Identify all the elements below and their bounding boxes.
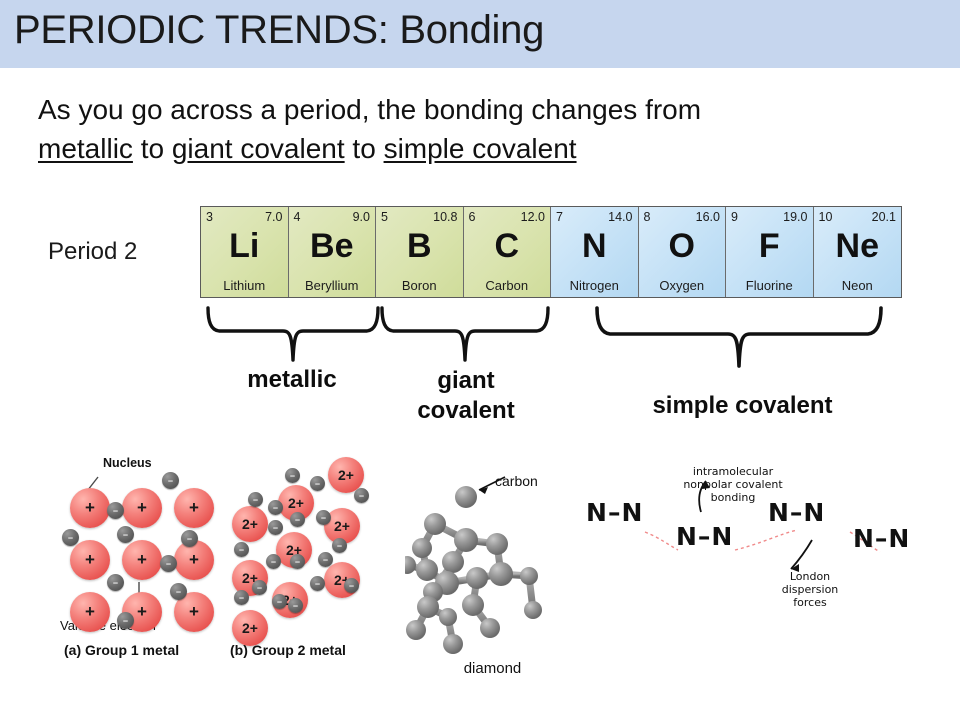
anno-line-1: intramolecular	[663, 465, 803, 478]
minus-sign: –	[268, 503, 283, 512]
figure-a-caption: (a) Group 1 metal	[60, 642, 249, 658]
figure-diamond	[405, 462, 580, 672]
period-label: Period 2	[48, 238, 137, 266]
valence-electron: –	[288, 598, 303, 613]
element-name: Nitrogen	[551, 278, 638, 293]
element-symbol: Ne	[814, 227, 902, 265]
minus-sign: –	[107, 506, 124, 515]
valence-electron: –	[107, 502, 124, 519]
valence-electron: –	[160, 555, 177, 572]
label-metallic: metallic	[207, 366, 377, 394]
valence-electron: –	[310, 476, 325, 491]
minus-sign: –	[272, 597, 287, 606]
element-name: Lithium	[201, 278, 288, 293]
valence-electron: –	[62, 529, 79, 546]
metal-ion: +	[174, 488, 214, 528]
metal-ion: +	[122, 540, 162, 580]
valence-electron: –	[252, 580, 267, 595]
figure-group-1-metal: Nucleus Valence electron (a) Group 1 met…	[60, 450, 245, 665]
minus-sign: –	[266, 557, 281, 566]
valence-electron: –	[318, 552, 333, 567]
valence-electron: –	[248, 492, 263, 507]
brace-metallic	[205, 306, 381, 362]
anno-line-2: nonpolar covalent	[663, 478, 803, 491]
label-covalent: covalent	[381, 396, 551, 426]
term-metallic: metallic	[38, 133, 133, 164]
element-symbol: B	[376, 227, 463, 265]
atomic-number: 4	[294, 210, 301, 224]
valence-electron: –	[181, 530, 198, 547]
body-line-1: As you go across a period, the bonding c…	[38, 94, 701, 126]
metal-ion: +	[70, 488, 110, 528]
valence-electron: –	[107, 574, 124, 591]
valence-electron: –	[344, 578, 359, 593]
minus-sign: –	[160, 559, 177, 568]
valence-electron: –	[162, 472, 179, 489]
brace-giant-covalent	[379, 306, 551, 362]
metal-ion: +	[70, 540, 110, 580]
valence-electron: –	[268, 520, 283, 535]
element-cell-o[interactable]: 816.0OOxygen	[639, 207, 727, 297]
valence-electron: –	[234, 542, 249, 557]
element-symbol: Be	[289, 227, 376, 265]
atomic-mass: 10.8	[433, 210, 457, 224]
term-giant-covalent: giant covalent	[172, 133, 345, 164]
element-symbol: O	[639, 227, 726, 265]
atomic-number: 3	[206, 210, 213, 224]
brace-simple-covalent	[594, 306, 886, 368]
atomic-mass: 20.1	[872, 210, 896, 224]
minus-sign: –	[290, 515, 305, 524]
minus-sign: –	[107, 578, 124, 587]
element-name: Carbon	[464, 278, 551, 293]
element-symbol: N	[551, 227, 638, 265]
carbon-atom-label: carbon	[495, 473, 538, 489]
valence-electron: –	[268, 500, 283, 515]
atomic-mass: 12.0	[521, 210, 545, 224]
minus-sign: –	[181, 534, 198, 543]
minus-sign: –	[117, 616, 134, 625]
atomic-mass: 9.0	[353, 210, 370, 224]
element-symbol: C	[464, 227, 551, 265]
intramolecular-annotation: intramolecular nonpolar covalent bonding	[663, 465, 803, 504]
metal-ion: 2+	[232, 506, 268, 542]
label-giant: giant	[381, 366, 551, 396]
minus-sign: –	[310, 579, 325, 588]
figure-group-2-metal: (b) Group 2 metal 2+2+2+2+2+2+2+2+2+––––…	[228, 450, 388, 665]
label-giant-covalent: giant covalent	[381, 366, 551, 426]
n2-molecule-2: N–N	[676, 522, 733, 551]
minus-sign: –	[318, 555, 333, 564]
atomic-number: 6	[469, 210, 476, 224]
metal-ion: +	[122, 488, 162, 528]
element-name: Beryllium	[289, 278, 376, 293]
metal-ion: +	[70, 592, 110, 632]
valence-electron: –	[117, 612, 134, 629]
periodic-table-strip: 37.0LiLithium49.0BeBeryllium510.8BBoron6…	[200, 206, 902, 298]
valence-electron: –	[234, 590, 249, 605]
element-cell-be[interactable]: 49.0BeBeryllium	[289, 207, 377, 297]
valence-electron: –	[266, 554, 281, 569]
atomic-number: 10	[819, 210, 833, 224]
diamond-caption: diamond	[410, 660, 575, 677]
minus-sign: –	[310, 479, 325, 488]
valence-electron: –	[117, 526, 134, 543]
minus-sign: –	[170, 587, 187, 596]
valence-electron: –	[272, 594, 287, 609]
element-name: Oxygen	[639, 278, 726, 293]
valence-electron: –	[290, 554, 305, 569]
label-simple-covalent: simple covalent	[600, 392, 885, 420]
metal-ion: +	[174, 540, 214, 580]
page-title: PERIODIC TRENDS: Bonding	[14, 8, 544, 53]
element-cell-ne[interactable]: 1020.1NeNeon	[814, 207, 902, 297]
valence-electron: –	[316, 510, 331, 525]
element-cell-f[interactable]: 919.0FFluorine	[726, 207, 814, 297]
term-simple-covalent: simple covalent	[384, 133, 577, 164]
element-symbol: F	[726, 227, 813, 265]
london-line-2: dispersion	[755, 583, 865, 596]
london-dispersion-annotation: London dispersion forces	[755, 570, 865, 609]
atomic-number: 9	[731, 210, 738, 224]
atomic-number: 5	[381, 210, 388, 224]
minus-sign: –	[316, 513, 331, 522]
title-bar: PERIODIC TRENDS: Bonding	[0, 0, 960, 68]
connector-1: to	[133, 133, 172, 164]
element-symbol: Li	[201, 227, 288, 265]
valence-electron: –	[354, 488, 369, 503]
minus-sign: –	[117, 530, 134, 539]
valence-electron: –	[332, 538, 347, 553]
element-cell-b[interactable]: 510.8BBoron	[376, 207, 464, 297]
minus-sign: –	[248, 495, 263, 504]
atomic-number: 7	[556, 210, 563, 224]
minus-sign: –	[285, 471, 300, 480]
element-name: Boron	[376, 278, 463, 293]
element-cell-li[interactable]: 37.0LiLithium	[201, 207, 289, 297]
element-name: Neon	[814, 278, 902, 293]
metal-ion: 2+	[232, 610, 268, 646]
n-atom: N	[621, 498, 643, 527]
n-atom: N	[586, 498, 608, 527]
minus-sign: –	[268, 523, 283, 532]
element-name: Fluorine	[726, 278, 813, 293]
minus-sign: –	[252, 583, 267, 592]
body-line-2: metallic to giant covalent to simple cov…	[38, 133, 577, 165]
minus-sign: –	[332, 541, 347, 550]
minus-sign: –	[234, 593, 249, 602]
element-cell-c[interactable]: 612.0CCarbon	[464, 207, 552, 297]
london-line-1: London	[755, 570, 865, 583]
slide-canvas: PERIODIC TRENDS: Bonding As you go acros…	[0, 0, 960, 720]
connector-2: to	[345, 133, 384, 164]
valence-electron: –	[170, 583, 187, 600]
valence-electron: –	[285, 468, 300, 483]
minus-sign: –	[62, 533, 79, 542]
minus-sign: –	[234, 545, 249, 554]
valence-electron: –	[310, 576, 325, 591]
valence-electron: –	[290, 512, 305, 527]
atomic-mass: 19.0	[783, 210, 807, 224]
atomic-mass: 7.0	[265, 210, 282, 224]
minus-sign: –	[354, 491, 369, 500]
n2-molecule-1: N–N	[586, 498, 643, 527]
minus-sign: –	[344, 581, 359, 590]
atomic-number: 8	[644, 210, 651, 224]
atomic-mass: 16.0	[696, 210, 720, 224]
minus-sign: –	[162, 476, 179, 485]
minus-sign: –	[288, 601, 303, 610]
n2-molecule-4: N–N	[853, 524, 910, 553]
london-line-3: forces	[755, 596, 865, 609]
minus-sign: –	[290, 557, 305, 566]
anno-line-3: bonding	[663, 491, 803, 504]
atomic-mass: 14.0	[608, 210, 632, 224]
element-cell-n[interactable]: 714.0NNitrogen	[551, 207, 639, 297]
nucleus-label: Nucleus	[103, 456, 152, 470]
